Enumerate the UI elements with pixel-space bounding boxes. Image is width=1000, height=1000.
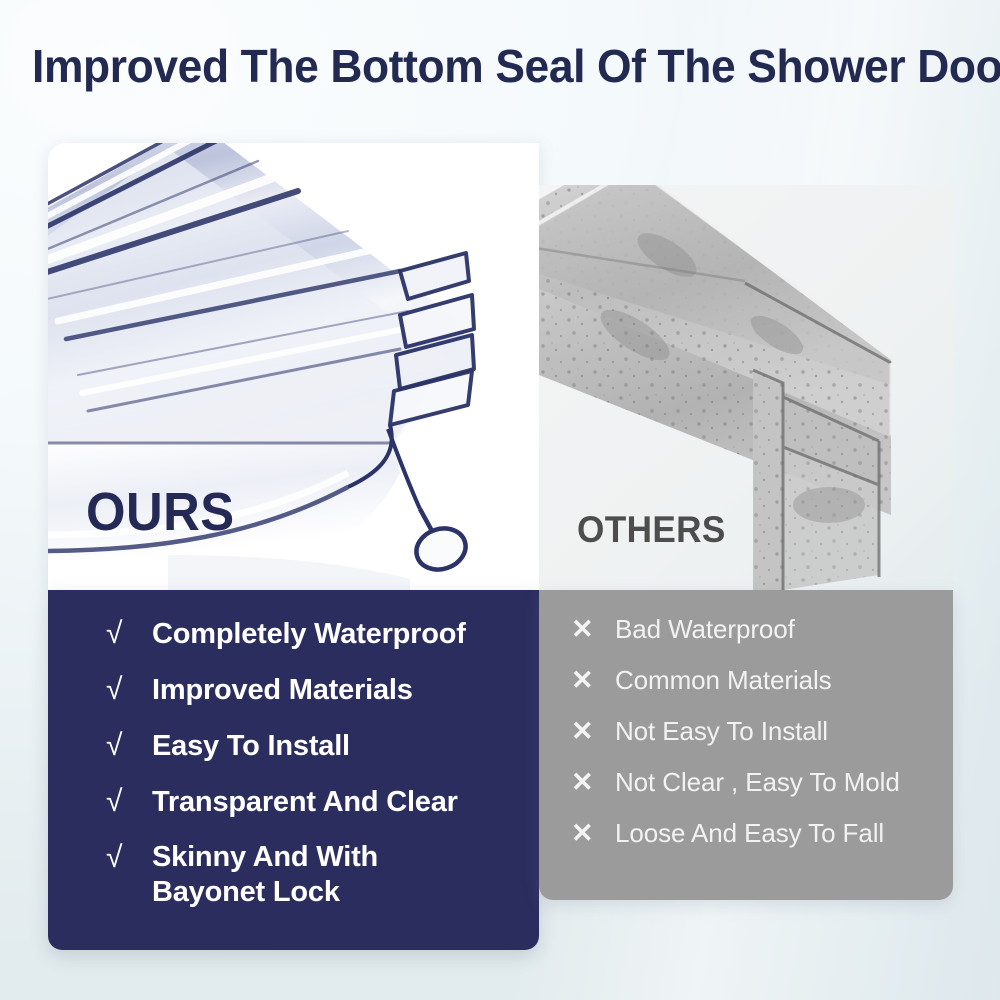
check-mark-icon: √ <box>106 728 136 764</box>
cross-mark-icon: ✕ <box>571 663 599 697</box>
infographic-canvas: Improved The Bottom Seal Of The Shower D… <box>0 0 1000 1000</box>
list-item-label: Not Clear , Easy To Mold <box>615 765 900 799</box>
list-item: √ Transparent And Clear <box>48 784 539 820</box>
cross-mark-icon: ✕ <box>571 816 599 850</box>
ours-label: OURS <box>86 481 235 543</box>
list-item-label: Skinny And With Bayonet Lock <box>152 840 452 910</box>
list-item-label: Bad Waterproof <box>615 612 795 646</box>
list-item-label: Completely Waterproof <box>152 616 466 652</box>
list-item-label: Loose And Easy To Fall <box>615 816 884 850</box>
ours-column: OURS √ Completely Waterproof √ Improved … <box>48 143 539 950</box>
list-item-label: Easy To Install <box>152 728 350 764</box>
check-mark-icon: √ <box>106 784 136 820</box>
list-item: √ Easy To Install <box>48 728 539 764</box>
list-item-label: Improved Materials <box>152 672 413 708</box>
list-item-label: Not Easy To Install <box>615 714 828 748</box>
list-item-label: Transparent And Clear <box>152 784 458 820</box>
check-mark-icon: √ <box>106 840 136 876</box>
ours-product-photo: OURS <box>48 143 539 590</box>
list-item: ✕ Common Materials <box>539 663 953 697</box>
list-item: ✕ Not Easy To Install <box>539 714 953 748</box>
check-mark-icon: √ <box>106 616 136 652</box>
list-item-label: Common Materials <box>615 663 832 697</box>
page-title: Improved The Bottom Seal Of The Shower D… <box>32 38 945 94</box>
others-product-photo: OTHERS <box>539 185 953 590</box>
list-item: ✕ Loose And Easy To Fall <box>539 816 953 850</box>
check-mark-icon: √ <box>106 672 136 708</box>
others-label: OTHERS <box>577 509 726 551</box>
list-item: √ Skinny And With Bayonet Lock <box>48 840 539 910</box>
list-item: ✕ Bad Waterproof <box>539 612 953 646</box>
list-item: √ Completely Waterproof <box>48 616 539 652</box>
cross-mark-icon: ✕ <box>571 714 599 748</box>
ours-feature-list: √ Completely Waterproof √ Improved Mater… <box>48 590 539 950</box>
cross-mark-icon: ✕ <box>571 765 599 799</box>
list-item: ✕ Not Clear , Easy To Mold <box>539 765 953 799</box>
list-item: √ Improved Materials <box>48 672 539 708</box>
cross-mark-icon: ✕ <box>571 612 599 646</box>
others-column: OTHERS ✕ Bad Waterproof ✕ Common Materia… <box>539 185 953 900</box>
others-feature-list: ✕ Bad Waterproof ✕ Common Materials ✕ No… <box>539 590 953 900</box>
comparison-layout: OURS √ Completely Waterproof √ Improved … <box>48 143 953 950</box>
